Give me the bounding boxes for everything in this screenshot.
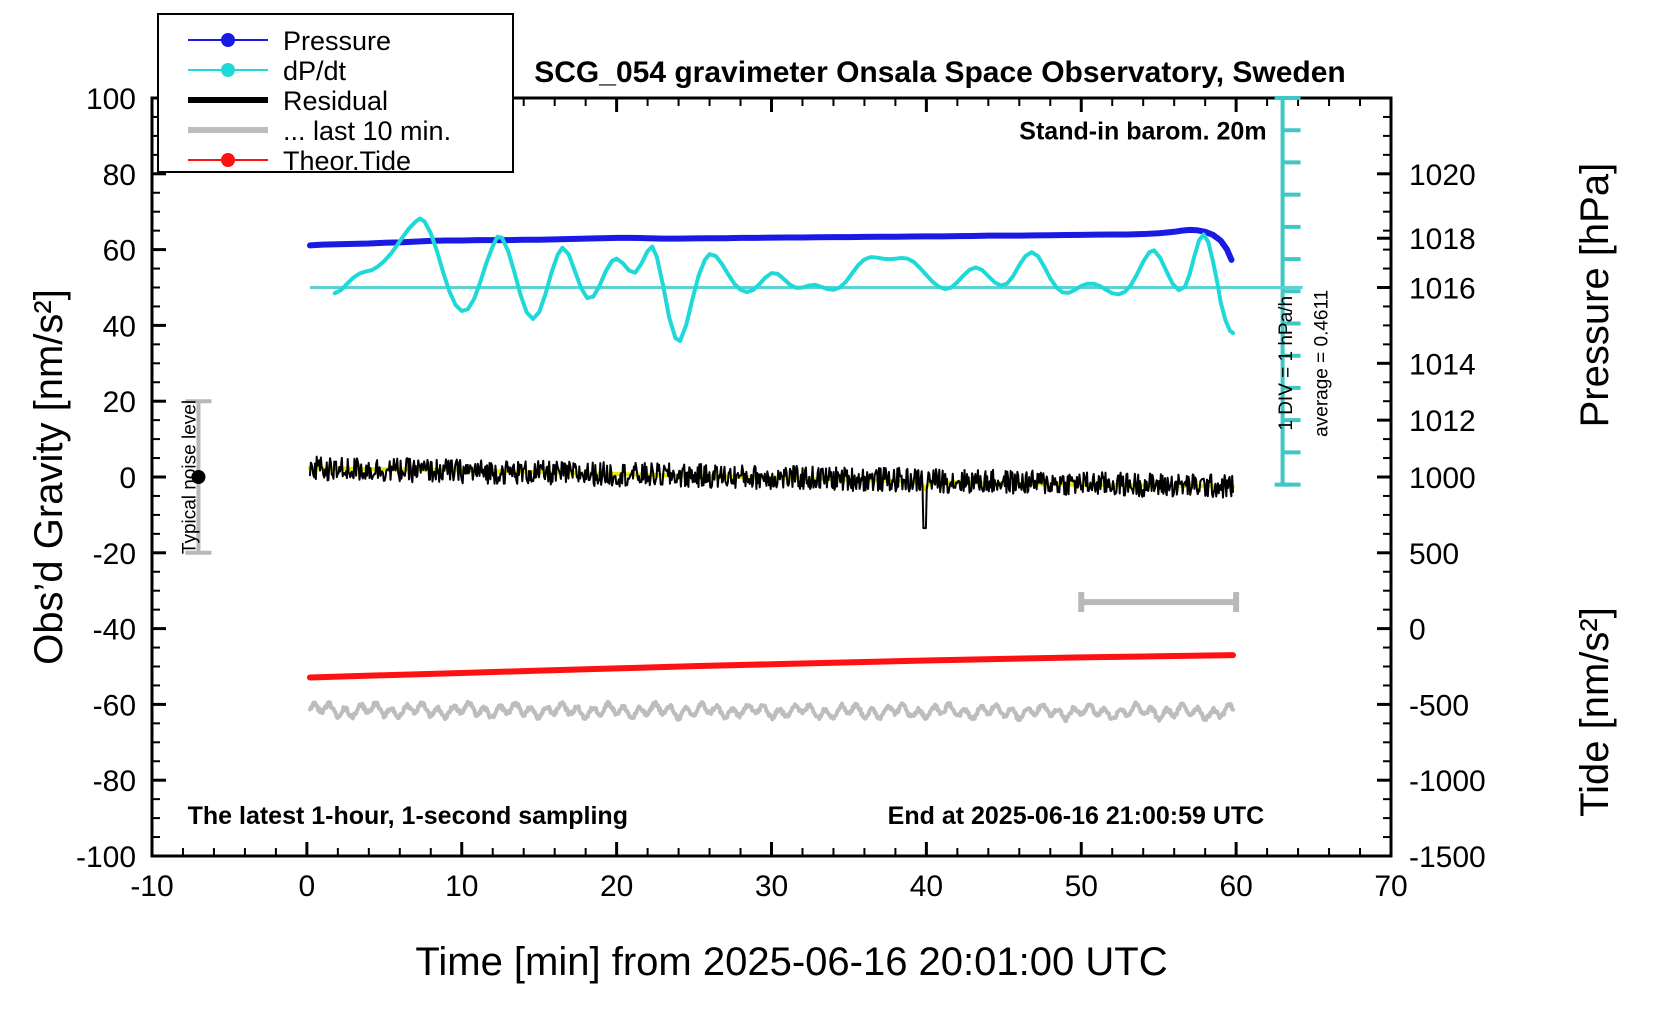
pressure-axis-title: Pressure [hPa] xyxy=(1573,163,1617,428)
annotation-noise-level: Typical noise level xyxy=(179,400,200,554)
legend-marker-1 xyxy=(221,63,235,77)
tide-tick-label: -1000 xyxy=(1409,765,1486,798)
y-tick-label: 40 xyxy=(103,310,136,343)
y-tick-label: -80 xyxy=(93,765,136,798)
y-tick-label: -40 xyxy=(93,614,136,647)
y-tick-label: -60 xyxy=(93,689,136,722)
series-residual-noisy- xyxy=(310,457,1233,528)
y-tick-label: -100 xyxy=(76,841,136,874)
annotation-stand-in-barometer: Stand-in barom. 20m xyxy=(1019,118,1266,146)
tide-tick-label: -500 xyxy=(1409,689,1469,722)
series-pressure xyxy=(310,230,1232,260)
x-tick-label: -10 xyxy=(130,870,173,903)
gravimeter-chart: -10010203040506070-100-80-60-40-20020406… xyxy=(0,0,1660,1020)
pressure-tick-label: 1016 xyxy=(1409,273,1476,306)
legend-marker-4 xyxy=(221,153,235,167)
series--last-min- xyxy=(310,702,1233,721)
x-tick-label: 20 xyxy=(600,870,633,903)
annotation-dpdt-average: average = 0.4611 xyxy=(1312,290,1333,437)
legend-marker-0 xyxy=(221,33,235,47)
chart-svg: -10010203040506070-100-80-60-40-20020406… xyxy=(0,0,1660,1020)
pressure-tick-label: 1018 xyxy=(1409,223,1476,256)
x-tick-label: 40 xyxy=(910,870,943,903)
y-tick-label: 60 xyxy=(103,235,136,268)
y-tick-label: 100 xyxy=(86,83,136,116)
tide-axis-title: Tide [nm/s²] xyxy=(1573,607,1617,817)
tide-tick-label: -1500 xyxy=(1409,841,1486,874)
y-tick-label: 0 xyxy=(119,462,136,495)
series-theor-tide xyxy=(310,655,1233,677)
tide-tick-label: 0 xyxy=(1409,614,1426,647)
x-tick-label: 30 xyxy=(755,870,788,903)
y-tick-label: -20 xyxy=(93,538,136,571)
plot-title: SCG_054 gravimeter Onsala Space Observat… xyxy=(534,56,1346,89)
y-tick-label: 80 xyxy=(103,159,136,192)
legend-label-4: Theor.Tide xyxy=(283,146,411,176)
pressure-tick-label: 1012 xyxy=(1409,405,1476,438)
pressure-tick-label: 1014 xyxy=(1409,348,1476,381)
annotation-end-time: End at 2025-06-16 21:00:59 UTC xyxy=(888,802,1265,830)
tide-tick-label: 1000 xyxy=(1409,462,1476,495)
legend-label-0: Pressure xyxy=(283,26,391,56)
y-tick-label: 20 xyxy=(103,386,136,419)
x-tick-label: 60 xyxy=(1219,870,1252,903)
annotation-sampling-note: The latest 1-hour, 1-second sampling xyxy=(188,802,628,830)
legend-label-2: Residual xyxy=(283,86,388,116)
legend-label-1: dP/dt xyxy=(283,56,347,86)
x-tick-label: 70 xyxy=(1374,870,1407,903)
x-axis-title: Time [min] from 2025-06-16 20:01:00 UTC xyxy=(415,940,1167,984)
y-axis-title: Obs’d Gravity [nm/s²] xyxy=(27,289,71,665)
tide-tick-label: 500 xyxy=(1409,538,1459,571)
pressure-tick-label: 1020 xyxy=(1409,159,1476,192)
x-tick-label: 10 xyxy=(445,870,478,903)
annotation-dpdt-scale: 1 DIV = 1 hPa/h xyxy=(1276,296,1297,431)
x-tick-label: 50 xyxy=(1065,870,1098,903)
legend-label-3: ... last 10 min. xyxy=(283,116,451,146)
x-tick-label: 0 xyxy=(299,870,316,903)
